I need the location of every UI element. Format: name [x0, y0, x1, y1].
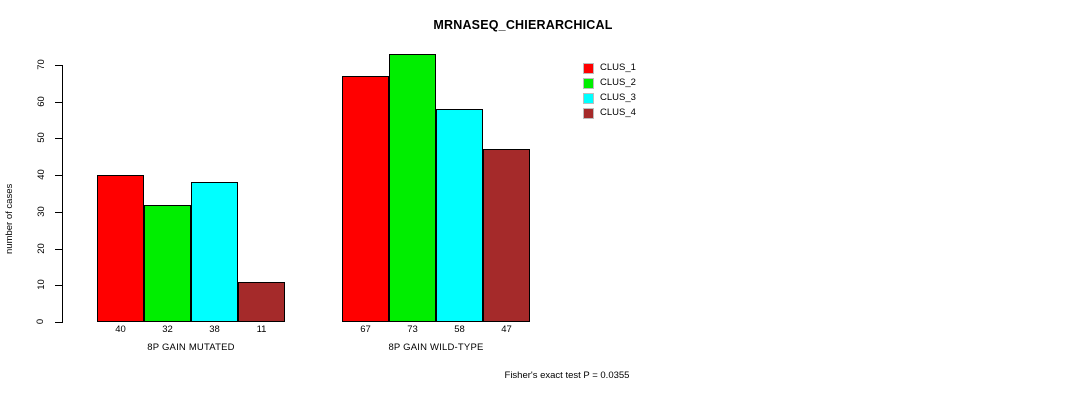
bar	[389, 54, 436, 322]
statistical-annotation: Fisher's exact test P = 0.0355	[0, 370, 1090, 381]
bar	[144, 205, 191, 322]
bar-value-label: 47	[483, 324, 530, 336]
bar	[191, 182, 238, 322]
bar-value-label: 32	[144, 324, 191, 336]
bar-value-label: 38	[191, 324, 238, 336]
group-axis-label: 8P GAIN WILD-TYPE	[342, 342, 530, 353]
legend-item-label: CLUS_4	[600, 105, 636, 120]
bar-value-label: 67	[342, 324, 389, 336]
bar	[97, 175, 144, 322]
legend-item-label: CLUS_3	[600, 90, 636, 105]
group-axis-label: 8P GAIN MUTATED	[97, 342, 285, 353]
bars-layer: 403238118P GAIN MUTATED677358478P GAIN W…	[0, 0, 1090, 400]
bar-value-label: 58	[436, 324, 483, 336]
bar	[238, 282, 285, 322]
legend-color-swatch	[583, 63, 594, 74]
chart-canvas: MRNASEQ_CHIERARCHICAL number of cases 01…	[0, 0, 1090, 400]
legend-color-swatch	[583, 93, 594, 104]
bar	[483, 149, 530, 322]
legend-item-label: CLUS_2	[600, 75, 636, 90]
statistical-annotation-text: Fisher's exact test P = 0.0355	[505, 370, 630, 381]
bar	[342, 76, 389, 322]
bar-value-label: 73	[389, 324, 436, 336]
legend-item-label: CLUS_1	[600, 60, 636, 75]
bar-value-label: 40	[97, 324, 144, 336]
bar	[436, 109, 483, 322]
legend-color-swatch	[583, 108, 594, 119]
legend-color-swatch	[583, 78, 594, 89]
bar-value-label: 11	[238, 324, 285, 336]
